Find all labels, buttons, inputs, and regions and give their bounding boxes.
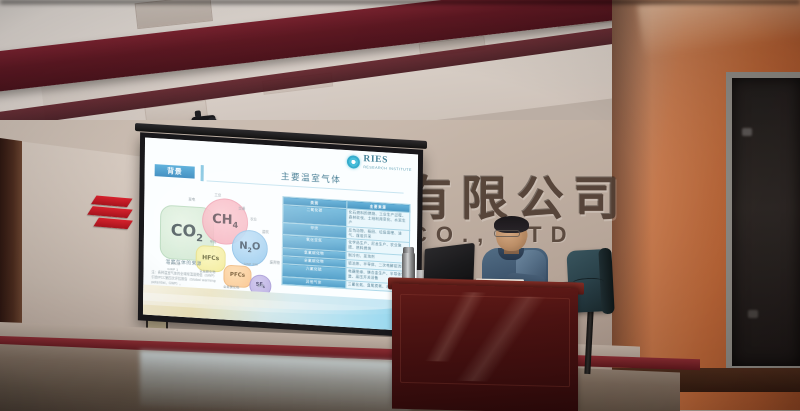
slide-title: 主要温室气体	[225, 166, 398, 189]
conference-room-photo: 有限公司 CO., LTD RIES RESEARCH INSTITUTE 背景	[0, 0, 800, 411]
teal-ring-logo-icon	[347, 155, 360, 169]
slide-logo: RIES RESEARCH INSTITUTE	[347, 154, 412, 172]
wooden-podium	[392, 284, 578, 411]
bubble-mini-label: 工业	[214, 192, 221, 197]
projection-screen-frame: RIES RESEARCH INSTITUTE 背景 主要温室气体 CO2	[138, 132, 423, 338]
red-diamond-three-bars-logo-icon	[88, 191, 141, 236]
bubble-mini-label: 发电	[188, 196, 195, 201]
bubble-mini-label: 建筑	[262, 229, 269, 234]
stage-floor-reflection	[140, 350, 410, 411]
bubble-mini-label: 农业	[250, 216, 257, 221]
podium-front-panel	[400, 294, 570, 387]
projection-screen: RIES RESEARCH INSTITUTE 背景 主要温室气体 CO2	[143, 138, 418, 332]
slide-section-badge-label: 背景	[167, 166, 182, 177]
bubble-label-ch4: 甲烷	[210, 240, 216, 244]
ceiling-panel	[135, 0, 213, 29]
slide: RIES RESEARCH INSTITUTE 背景 主要温室气体 CO2	[143, 138, 418, 332]
bubble-label-n2o: GWP 298	[244, 262, 258, 267]
door-highlight	[742, 128, 752, 136]
slide-header-tick	[201, 165, 204, 181]
slide-section-badge: 背景	[155, 164, 195, 178]
top-edge-band	[0, 0, 800, 4]
presenter-ear	[522, 231, 528, 239]
bubble-mini-label: 废弃物	[270, 259, 280, 265]
eyeglasses-icon	[494, 230, 520, 237]
door-highlight	[748, 310, 758, 318]
bubble-mini-label: 交通	[238, 205, 245, 210]
